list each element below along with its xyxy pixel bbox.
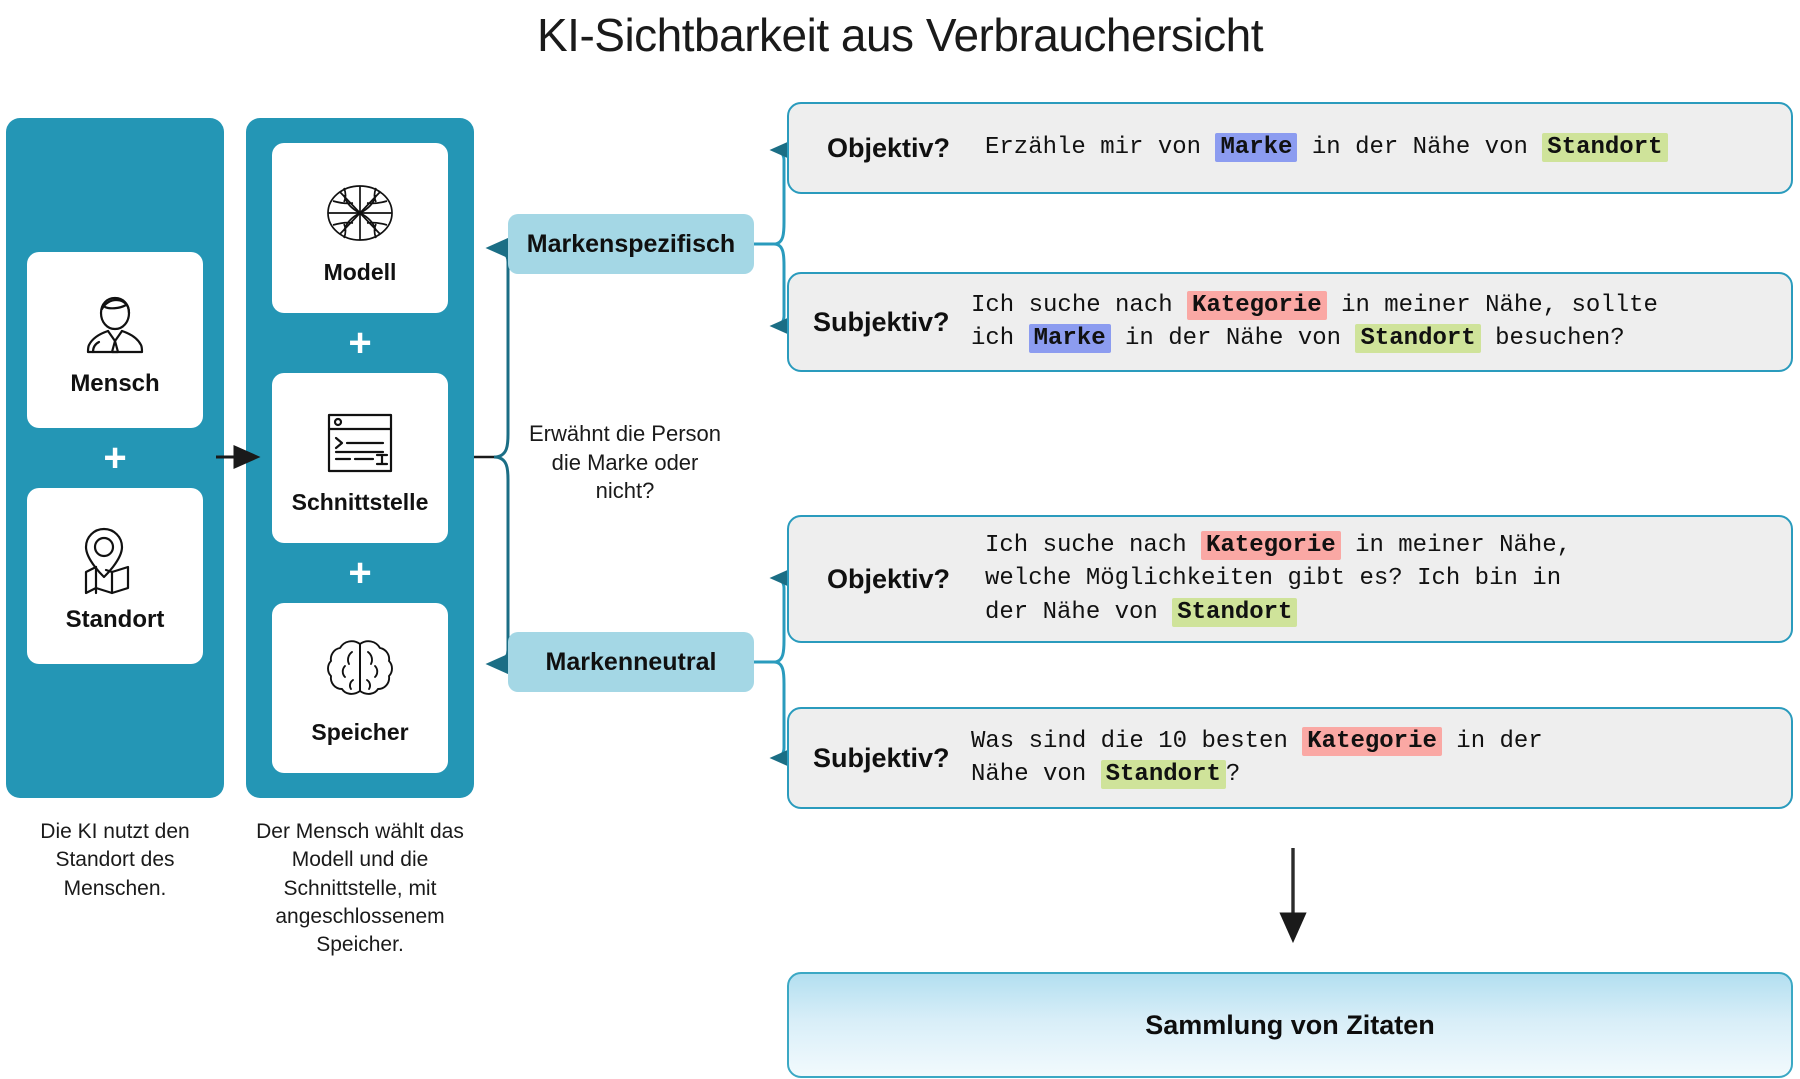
highlight-marke: Marke: [1029, 324, 1111, 353]
quote-line: Was sind die 10 besten Kategorie in der: [971, 725, 1791, 758]
card-schnittstelle: Schnittstelle: [272, 373, 448, 543]
card-label: Standort: [66, 606, 165, 634]
highlight-marke: Marke: [1215, 133, 1297, 162]
quote-segment: Ich suche nach: [971, 292, 1187, 319]
quote-segment: Nähe von: [971, 761, 1101, 788]
highlight-kategorie: Kategorie: [1187, 291, 1327, 320]
diagram-canvas: KI-Sichtbarkeit aus Verbrauchersicht: [0, 0, 1800, 1079]
highlight-kategorie: Kategorie: [1302, 727, 1442, 756]
person-icon: [73, 282, 157, 366]
quote-segment: Was sind die 10 besten: [971, 728, 1302, 755]
card-label: Mensch: [70, 370, 159, 398]
quote-segment: Erzähle mir von: [985, 134, 1215, 161]
quote-line: Nähe von Standort?: [971, 758, 1791, 791]
quote-line: Ich suche nach Kategorie in meiner Nähe,…: [971, 289, 1791, 322]
card-label: Speicher: [311, 719, 408, 746]
highlight-standort: Standort: [1542, 133, 1667, 162]
card-modell: Modell: [272, 143, 448, 313]
quote-box-objektiv-markenneutral: Objektiv? Ich suche nach Kategorie in me…: [787, 515, 1793, 643]
collection-box: Sammlung von Zitaten: [787, 972, 1793, 1078]
card-standort: Standort: [27, 488, 203, 664]
quote-text: Ich suche nach Kategorie in meiner Nähe,…: [971, 289, 1791, 355]
collection-label: Sammlung von Zitaten: [1145, 1010, 1435, 1041]
caption-column-two: Der Mensch wählt das Modell und die Schn…: [244, 818, 476, 960]
card-label: Schnittstelle: [292, 489, 429, 516]
page-title: KI-Sichtbarkeit aus Verbrauchersicht: [0, 8, 1800, 62]
quote-box-subjektiv-markenneutral: Subjektiv? Was sind die 10 besten Katego…: [787, 707, 1793, 809]
highlight-standort: Standort: [1355, 324, 1480, 353]
quote-line: Erzähle mir von Marke in der Nähe von St…: [985, 131, 1791, 164]
quote-segment: besuchen?: [1481, 325, 1625, 352]
quote-line: welche Möglichkeiten gibt es? Ich bin in: [985, 562, 1791, 595]
branch-markenspezifisch[interactable]: Markenspezifisch: [508, 214, 754, 274]
quote-segment: in meiner Nähe,: [1341, 532, 1571, 559]
map-pin-icon: [73, 518, 157, 602]
card-label: Modell: [324, 259, 397, 286]
quote-text: Erzähle mir von Marke in der Nähe von St…: [985, 131, 1791, 164]
plus-separator: +: [103, 438, 126, 478]
decision-question: Erwähnt die Person die Marke oder nicht?: [520, 420, 730, 506]
quote-label: Objektiv?: [827, 133, 977, 164]
quote-segment: welche Möglichkeiten gibt es? Ich bin in: [985, 565, 1561, 592]
quote-segment: der Nähe von: [985, 599, 1172, 626]
highlight-standort: Standort: [1101, 760, 1226, 789]
quote-text: Was sind die 10 besten Kategorie in derN…: [971, 725, 1791, 791]
quote-segment: ich: [971, 325, 1029, 352]
quote-box-subjektiv-markenspezifisch: Subjektiv? Ich suche nach Kategorie in m…: [787, 272, 1793, 372]
highlight-kategorie: Kategorie: [1201, 531, 1341, 560]
caption-column-one: Die KI nutzt den Standort des Menschen.: [4, 818, 226, 903]
quote-segment: in der Nähe von: [1111, 325, 1356, 352]
human-location-panel: Mensch + Standort: [6, 118, 224, 798]
quote-segment: in der Nähe von: [1297, 134, 1542, 161]
quote-label: Subjektiv?: [813, 743, 963, 774]
quote-segment: Ich suche nach: [985, 532, 1201, 559]
model-interface-memory-panel: Modell + Schnittstel: [246, 118, 474, 798]
card-speicher: Speicher: [272, 603, 448, 773]
quote-text: Ich suche nach Kategorie in meiner Nähe,…: [985, 529, 1791, 628]
highlight-standort: Standort: [1172, 598, 1297, 627]
quote-segment: ?: [1226, 761, 1240, 788]
plus-separator: +: [348, 553, 371, 593]
plus-separator: +: [348, 323, 371, 363]
terminal-window-icon: [318, 401, 402, 485]
quote-label: Objektiv?: [827, 564, 977, 595]
quote-label: Subjektiv?: [813, 307, 963, 338]
card-mensch: Mensch: [27, 252, 203, 428]
quote-segment: in der: [1442, 728, 1543, 755]
neural-network-icon: [318, 171, 402, 255]
branch-markenneutral[interactable]: Markenneutral: [508, 632, 754, 692]
quote-box-objektiv-markenspezifisch: Objektiv? Erzähle mir von Marke in der N…: [787, 102, 1793, 194]
quote-segment: in meiner Nähe, sollte: [1327, 292, 1658, 319]
brain-icon: [318, 631, 402, 715]
quote-line: ich Marke in der Nähe von Standort besuc…: [971, 322, 1791, 355]
quote-line: der Nähe von Standort: [985, 596, 1791, 629]
quote-line: Ich suche nach Kategorie in meiner Nähe,: [985, 529, 1791, 562]
